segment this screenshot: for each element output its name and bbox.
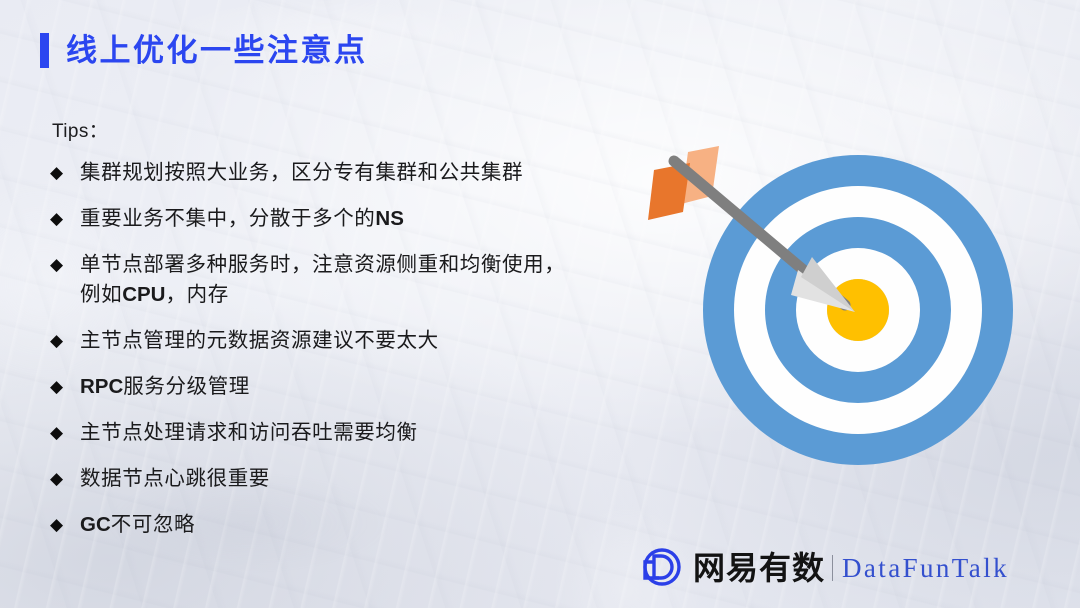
slide-canvas: 线上优化一些注意点 Tips： ◆ 集群规划按照大业务，区分专有集群和公共集群 … [0, 0, 1080, 608]
list-item: ◆ 主节点管理的元数据资源建议不要太大 [50, 326, 650, 356]
list-item: ◆ 主节点处理请求和访问吞吐需要均衡 [50, 418, 650, 448]
list-item: ◆ 集群规划按照大业务，区分专有集群和公共集群 [50, 158, 650, 188]
diamond-bullet-icon: ◆ [50, 418, 80, 448]
diamond-bullet-icon: ◆ [50, 204, 80, 234]
footer-branding: 网易有数 DataFunTalk [636, 545, 1009, 591]
title-accent-bar [40, 33, 49, 68]
list-item-label: 重要业务不集中，分散于多个的NS [80, 204, 404, 234]
brand-name-cn: 网易有数 [693, 552, 825, 584]
diamond-bullet-icon: ◆ [50, 158, 80, 188]
diamond-bullet-icon: ◆ [50, 372, 80, 402]
list-item-label: GC不可忽略 [80, 510, 195, 540]
title-label: 线上优化一些注意点 [66, 35, 368, 66]
list-item: ◆ 单节点部署多种服务时，注意资源侧重和均衡使用，例如CPU，内存 [50, 250, 650, 310]
list-item: ◆ 重要业务不集中，分散于多个的NS [50, 204, 650, 234]
datafun-logo-icon [636, 546, 682, 590]
brand-name-en: DataFunTalk [842, 555, 1009, 582]
list-item-label: 主节点处理请求和访问吞吐需要均衡 [80, 418, 418, 448]
list-item-label: 数据节点心跳很重要 [80, 464, 270, 494]
page-title: 线上优化一些注意点 [40, 33, 368, 68]
list-item: ◆ 数据节点心跳很重要 [50, 464, 650, 494]
list-item-label: 单节点部署多种服务时，注意资源侧重和均衡使用，例如CPU，内存 [80, 250, 565, 310]
list-item-ascii: NS [375, 207, 403, 230]
diamond-bullet-icon: ◆ [50, 510, 80, 540]
diamond-bullet-icon: ◆ [50, 326, 80, 356]
tips-label: Tips： [52, 116, 108, 143]
list-item-ascii: GC [80, 513, 111, 536]
target-bullseye-center [827, 279, 889, 341]
diamond-bullet-icon: ◆ [50, 250, 80, 280]
bullet-list: ◆ 集群规划按照大业务，区分专有集群和公共集群 ◆ 重要业务不集中，分散于多个的… [50, 158, 650, 556]
list-item-continuation: 例如CPU，内存 [80, 280, 565, 310]
diamond-bullet-icon: ◆ [50, 464, 80, 494]
list-item-label: 集群规划按照大业务，区分专有集群和公共集群 [80, 158, 523, 188]
list-item: ◆ GC不可忽略 [50, 510, 650, 540]
target-icon [703, 155, 1013, 465]
list-item-label: RPC服务分级管理 [80, 372, 250, 402]
list-item-label: 主节点管理的元数据资源建议不要太大 [80, 326, 439, 356]
list-item-ascii: RPC [80, 375, 123, 398]
arrow-fletching-dark [648, 163, 690, 220]
brand-divider [832, 555, 833, 581]
list-item: ◆ RPC服务分级管理 [50, 372, 650, 402]
